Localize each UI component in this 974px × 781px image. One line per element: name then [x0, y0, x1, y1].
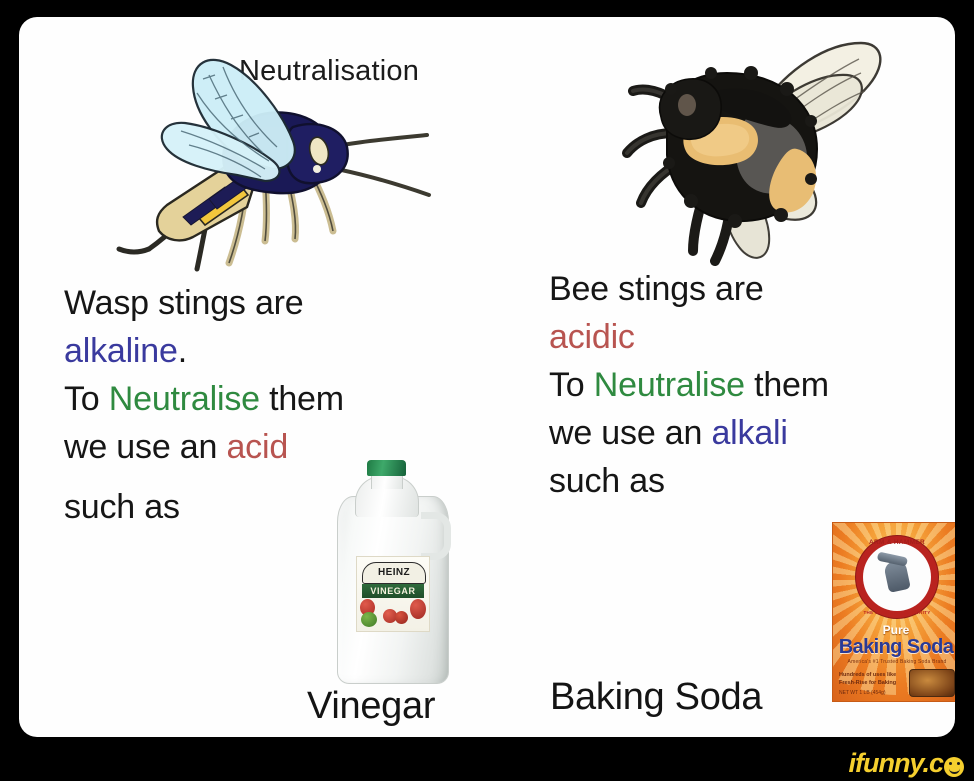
- wasp-line-2: alkaline.: [64, 327, 344, 375]
- heinz-brand-label: HEINZ: [362, 562, 426, 584]
- baking-soda-box-face: ARM & HAMMER THE STANDARD OF PURITY Pure…: [832, 522, 955, 702]
- wasp-line-4-prefix: we use an: [64, 428, 226, 466]
- vinegar-jug-illustration: HEINZ VINEGAR: [329, 460, 464, 690]
- jug-cap: [367, 460, 406, 476]
- wasp-line-5-text: such as: [64, 488, 180, 526]
- ifunny-watermark: ifunny.c: [848, 748, 964, 779]
- bee-line-1: Bee stings are: [549, 265, 829, 313]
- product-name: Baking Soda: [833, 636, 955, 659]
- bee-line-5-text: such as: [549, 462, 665, 500]
- jug-label: HEINZ VINEGAR: [356, 556, 430, 632]
- logo-tagline-text: THE STANDARD OF PURITY: [856, 610, 938, 615]
- wasp-line-3: To Neutralise them: [64, 375, 344, 423]
- baking-soda-caption: Baking Soda: [550, 676, 762, 719]
- jug-handle: [421, 512, 451, 560]
- wasp-line-3-suffix: them: [260, 380, 344, 418]
- vinegar-product-label: VINEGAR: [362, 584, 424, 598]
- bee-line-2: acidic: [549, 313, 829, 361]
- wasp-line-3-prefix: To: [64, 380, 109, 418]
- label-cherry-tomato-2-icon: [395, 611, 408, 624]
- arm-and-hammer-logo-icon: ARM & HAMMER THE STANDARD OF PURITY: [855, 535, 939, 619]
- product-uses-text: Hundreds of uses like Fresh-Rise for Bak…: [839, 671, 907, 687]
- meme-screenshot: Neutralisation: [0, 0, 974, 781]
- logo-brand-text: ARM & HAMMER: [856, 539, 938, 546]
- label-pepper-icon: [361, 612, 377, 627]
- wasp-line-1: Wasp stings are: [64, 279, 344, 327]
- label-tomato-right-icon: [410, 599, 426, 619]
- bee-line-3: To Neutralise them: [549, 361, 829, 409]
- bee-line-3-prefix: To: [549, 366, 594, 404]
- bee-line-3-suffix: them: [745, 366, 829, 404]
- word-acid: acid: [226, 428, 288, 466]
- uses-line-2: Fresh-Rise for Baking: [839, 679, 907, 687]
- word-neutralise-right: Neutralise: [594, 366, 745, 404]
- wasp-line-5: such as: [64, 483, 344, 531]
- smiley-face-icon: [944, 757, 964, 777]
- bee-explanation-text: Bee stings are acidic To Neutralise them…: [549, 265, 829, 505]
- word-alkaline: alkaline: [64, 332, 178, 370]
- word-acidic: acidic: [549, 318, 635, 356]
- meme-card-surface: Neutralisation: [19, 17, 955, 737]
- bee-line-1-text: Bee stings are: [549, 270, 764, 308]
- baking-soda-box-illustration: ARM & HAMMER THE STANDARD OF PURITY Pure…: [832, 522, 955, 702]
- vinegar-caption: Vinegar: [307, 685, 435, 728]
- product-qualifier: Pure: [833, 623, 955, 637]
- wasp-line-2-period: .: [178, 332, 187, 370]
- meme-card-frame: Neutralisation: [6, 4, 968, 750]
- wasp-line-4: we use an acid: [64, 423, 344, 471]
- wasp-illustration: [97, 35, 437, 285]
- wasp-line-1-text: Wasp stings are: [64, 284, 304, 322]
- uses-line-1: Hundreds of uses like: [839, 671, 907, 679]
- wasp-explanation-text: Wasp stings are alkaline. To Neutralise …: [64, 279, 344, 531]
- baked-goods-photo-icon: [909, 669, 955, 697]
- bee-line-5: such as: [549, 457, 829, 505]
- net-weight-text: NET WT 1 LB (454g): [839, 690, 886, 696]
- word-neutralise-left: Neutralise: [109, 380, 260, 418]
- watermark-text: ifunny.c: [848, 748, 943, 779]
- product-subtitle: America's #1 Trusted Baking Soda Brand: [837, 659, 955, 665]
- bumblebee-illustration: [611, 29, 901, 281]
- bee-line-4-prefix: we use an: [549, 414, 711, 452]
- word-alkali: alkali: [711, 414, 787, 452]
- bee-line-4: we use an alkali: [549, 409, 829, 457]
